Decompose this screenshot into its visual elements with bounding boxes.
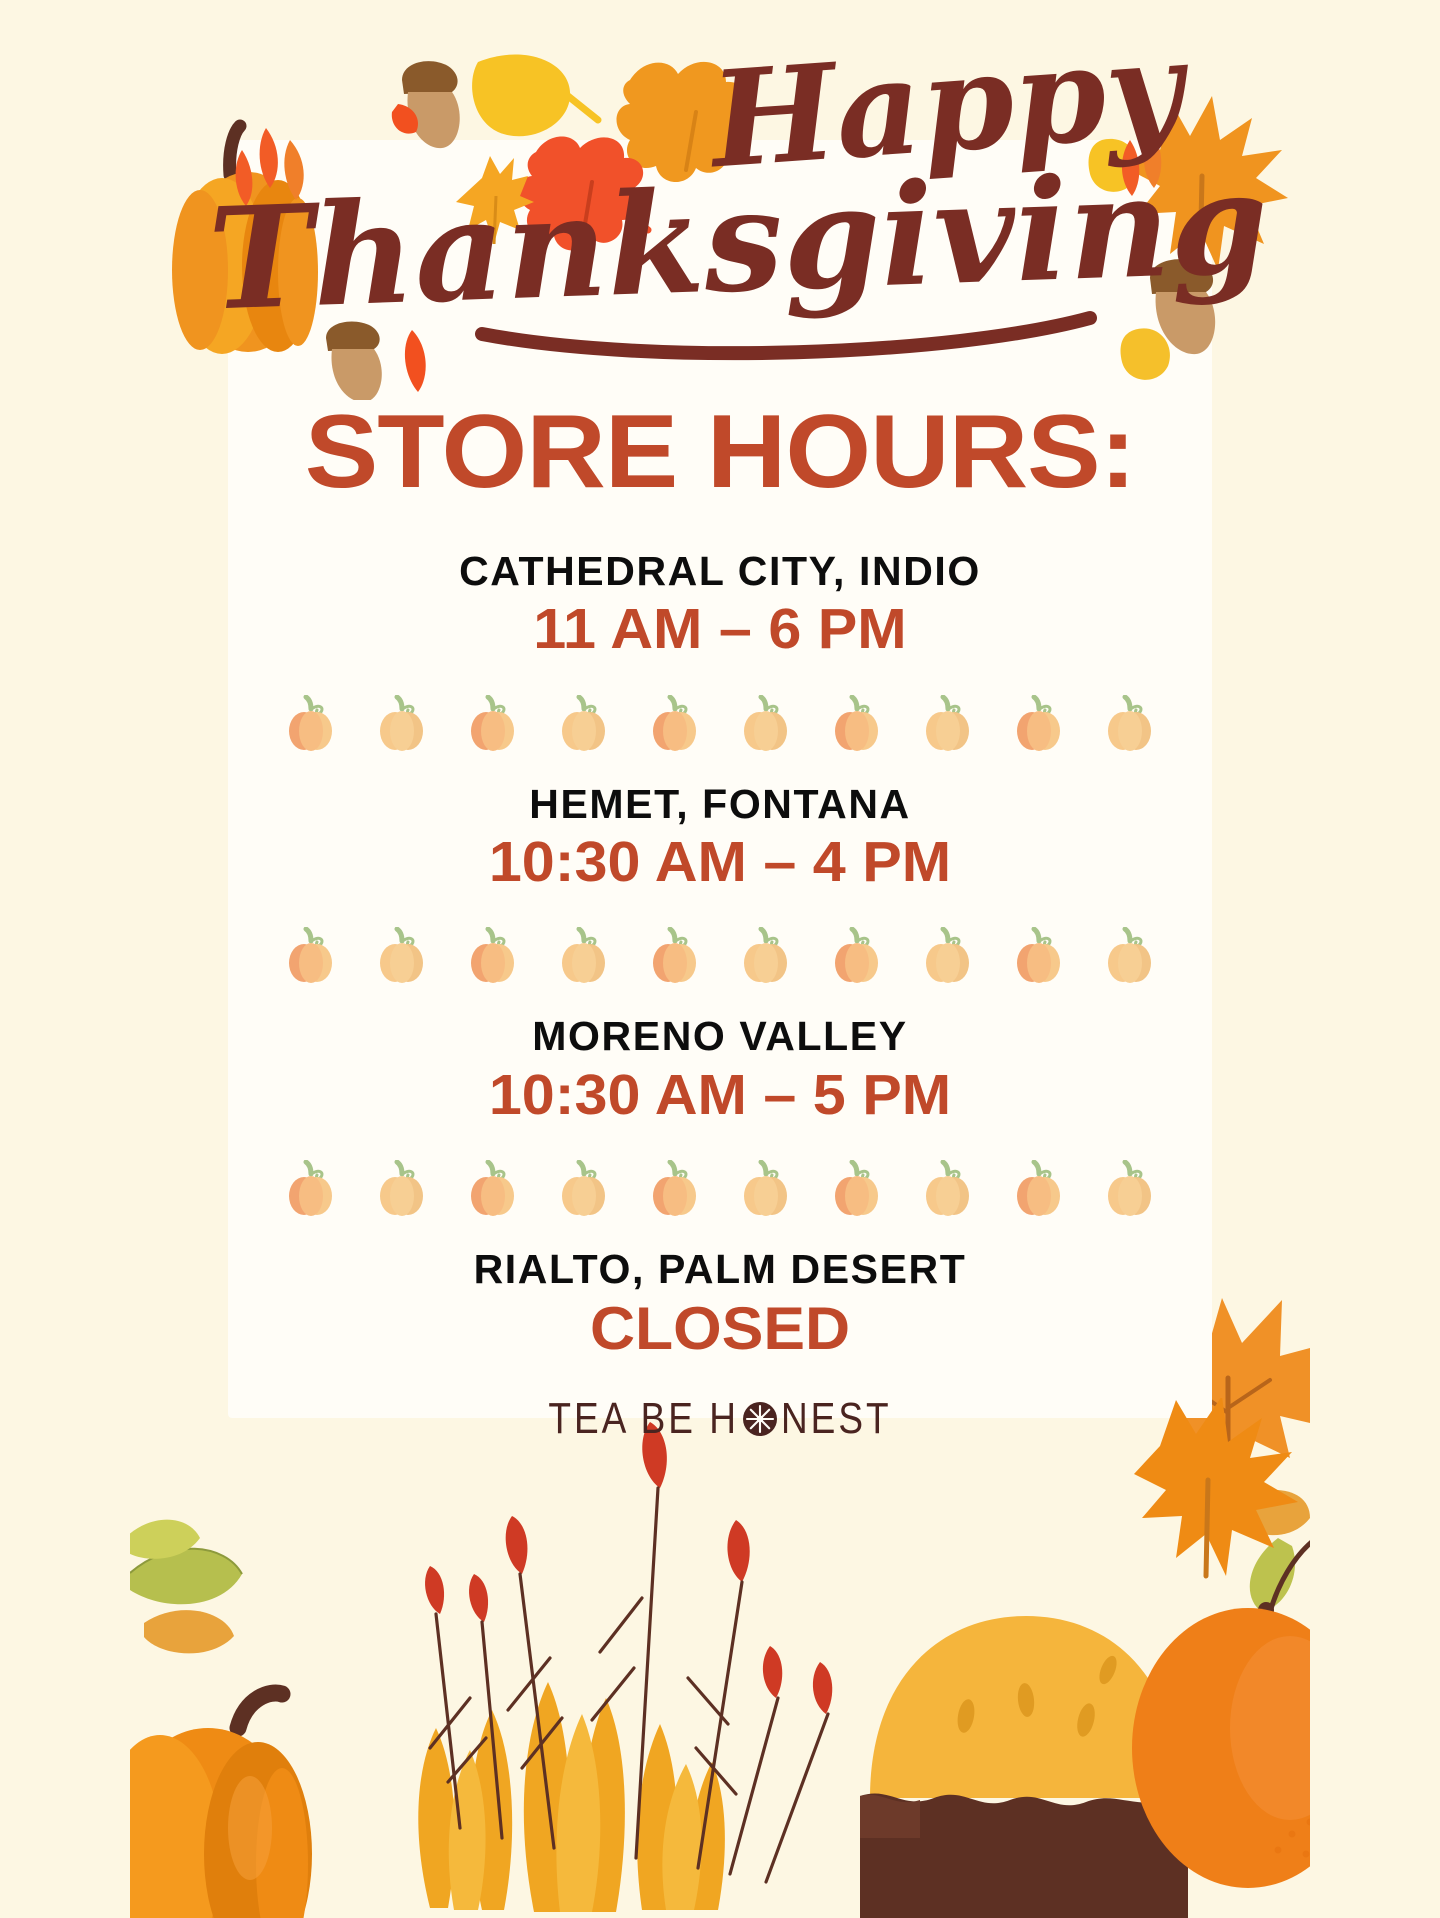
mini-pumpkin-icon: [644, 927, 706, 985]
mini-pumpkin-icon: [735, 1160, 797, 1218]
right-small-leaf: [1235, 1490, 1310, 1535]
location-name: RIALTO, PALM DESERT: [228, 1248, 1212, 1291]
mini-pumpkin-icon: [371, 695, 433, 753]
mini-pumpkin-icon: [1008, 927, 1070, 985]
brand-logo: TEA BE H NEST: [228, 1398, 1212, 1440]
mini-pumpkin-icon: [735, 927, 797, 985]
location-section-0: CATHEDRAL CITY, INDIO 11 AM – 6 PM: [228, 550, 1212, 661]
location-name: MORENO VALLEY: [228, 1015, 1212, 1058]
left-leaf-cluster: [130, 1520, 242, 1654]
mini-pumpkin-icon: [462, 927, 524, 985]
mini-pumpkin-icon: [553, 1160, 615, 1218]
pie-icon: [860, 1616, 1188, 1918]
mini-pumpkin-icon: [826, 927, 888, 985]
store-hours-content: STORE HOURS: CATHEDRAL CITY, INDIO 11 AM…: [228, 400, 1212, 1440]
location-hours-closed: CLOSED: [208, 1296, 1231, 1362]
mini-pumpkin-icon: [462, 1160, 524, 1218]
mini-pumpkin-icon: [826, 1160, 888, 1218]
bottom-decoration-art: [130, 1398, 1310, 1918]
page-title: STORE HOURS:: [198, 400, 1241, 504]
mini-pumpkin-icon: [553, 927, 615, 985]
mini-pumpkin-icon: [1008, 1160, 1070, 1218]
mini-pumpkin-icon: [917, 695, 979, 753]
location-hours: 11 AM – 6 PM: [208, 598, 1231, 661]
mini-pumpkin-icon: [917, 927, 979, 985]
location-section-1: HEMET, FONTANA 10:30 AM – 4 PM: [228, 783, 1212, 894]
logo-text-after: NEST: [781, 1394, 892, 1444]
location-hours: 10:30 AM – 4 PM: [208, 831, 1231, 894]
mini-pumpkin-icon: [1008, 695, 1070, 753]
mini-pumpkin-icon: [735, 695, 797, 753]
header-title-group: Happy Thanksgiving: [130, 0, 1310, 400]
mini-pumpkin-icon: [462, 695, 524, 753]
mini-pumpkin-icon: [917, 1160, 979, 1218]
thanksgiving-store-hours-poster: Happy Thanksgiving STORE HOURS: CATHEDRA…: [130, 0, 1310, 1918]
location-section-2: MORENO VALLEY 10:30 AM – 5 PM: [228, 1015, 1212, 1126]
mini-pumpkin-icon: [371, 927, 433, 985]
location-section-3: RIALTO, PALM DESERT CLOSED: [228, 1248, 1212, 1362]
mini-pumpkin-icon: [280, 1160, 342, 1218]
mini-pumpkin-icon: [1099, 695, 1161, 753]
mini-pumpkin-icon: [644, 1160, 706, 1218]
location-name: HEMET, FONTANA: [228, 783, 1212, 826]
location-hours: 10:30 AM – 5 PM: [208, 1064, 1231, 1127]
mini-pumpkin-icon: [1099, 1160, 1161, 1218]
mini-pumpkin-icon: [371, 1160, 433, 1218]
pumpkin-divider-1: [228, 923, 1212, 985]
logo-text-before: TEA BE H: [548, 1394, 739, 1444]
citrus-slice-icon: [741, 1400, 779, 1438]
pumpkin-divider-2: [228, 1156, 1212, 1218]
wheat-bouquet-icon: [418, 1422, 832, 1912]
location-name: CATHEDRAL CITY, INDIO: [228, 550, 1212, 593]
mini-pumpkin-icon: [644, 695, 706, 753]
pumpkin-divider-0: [228, 691, 1212, 753]
pumpkin-icon-bottom-left: [130, 1693, 312, 1918]
mini-pumpkin-icon: [1099, 927, 1161, 985]
orange-icon: [1132, 1538, 1310, 1888]
header-thanksgiving: Thanksgiving: [206, 142, 1271, 343]
mini-pumpkin-icon: [553, 695, 615, 753]
mini-pumpkin-icon: [826, 695, 888, 753]
mini-pumpkin-icon: [280, 695, 342, 753]
mini-pumpkin-icon: [280, 927, 342, 985]
